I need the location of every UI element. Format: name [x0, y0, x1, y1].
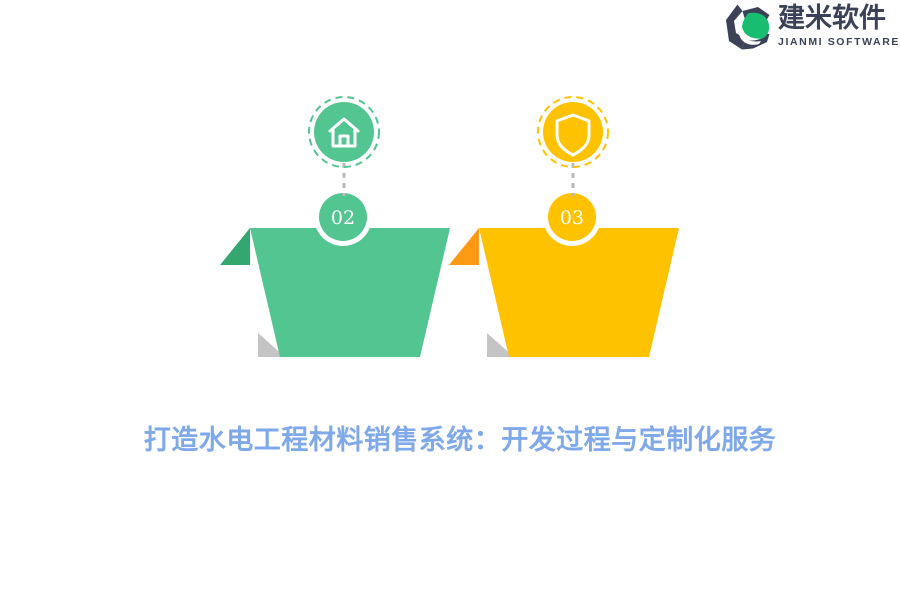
step-02-fold: [220, 228, 250, 265]
step-card-02[interactable]: 02: [220, 188, 450, 357]
step-02-icon-group[interactable]: [309, 97, 379, 167]
step-03-fold: [449, 228, 479, 265]
infographic-stage: 02 03: [0, 0, 900, 600]
step-card-03[interactable]: 03: [449, 188, 679, 357]
step-03-badge-label: 03: [560, 207, 584, 229]
step-02-badge-label: 02: [331, 207, 355, 229]
step-02-icon-circle: [314, 102, 374, 162]
step-03-panel: [479, 228, 679, 357]
step-03-icon-group[interactable]: [538, 97, 608, 167]
step-03-icon-circle: [543, 102, 603, 162]
step-02-panel: [250, 228, 450, 357]
page-title: 打造水电工程材料销售系统：开发过程与定制化服务: [0, 418, 900, 457]
